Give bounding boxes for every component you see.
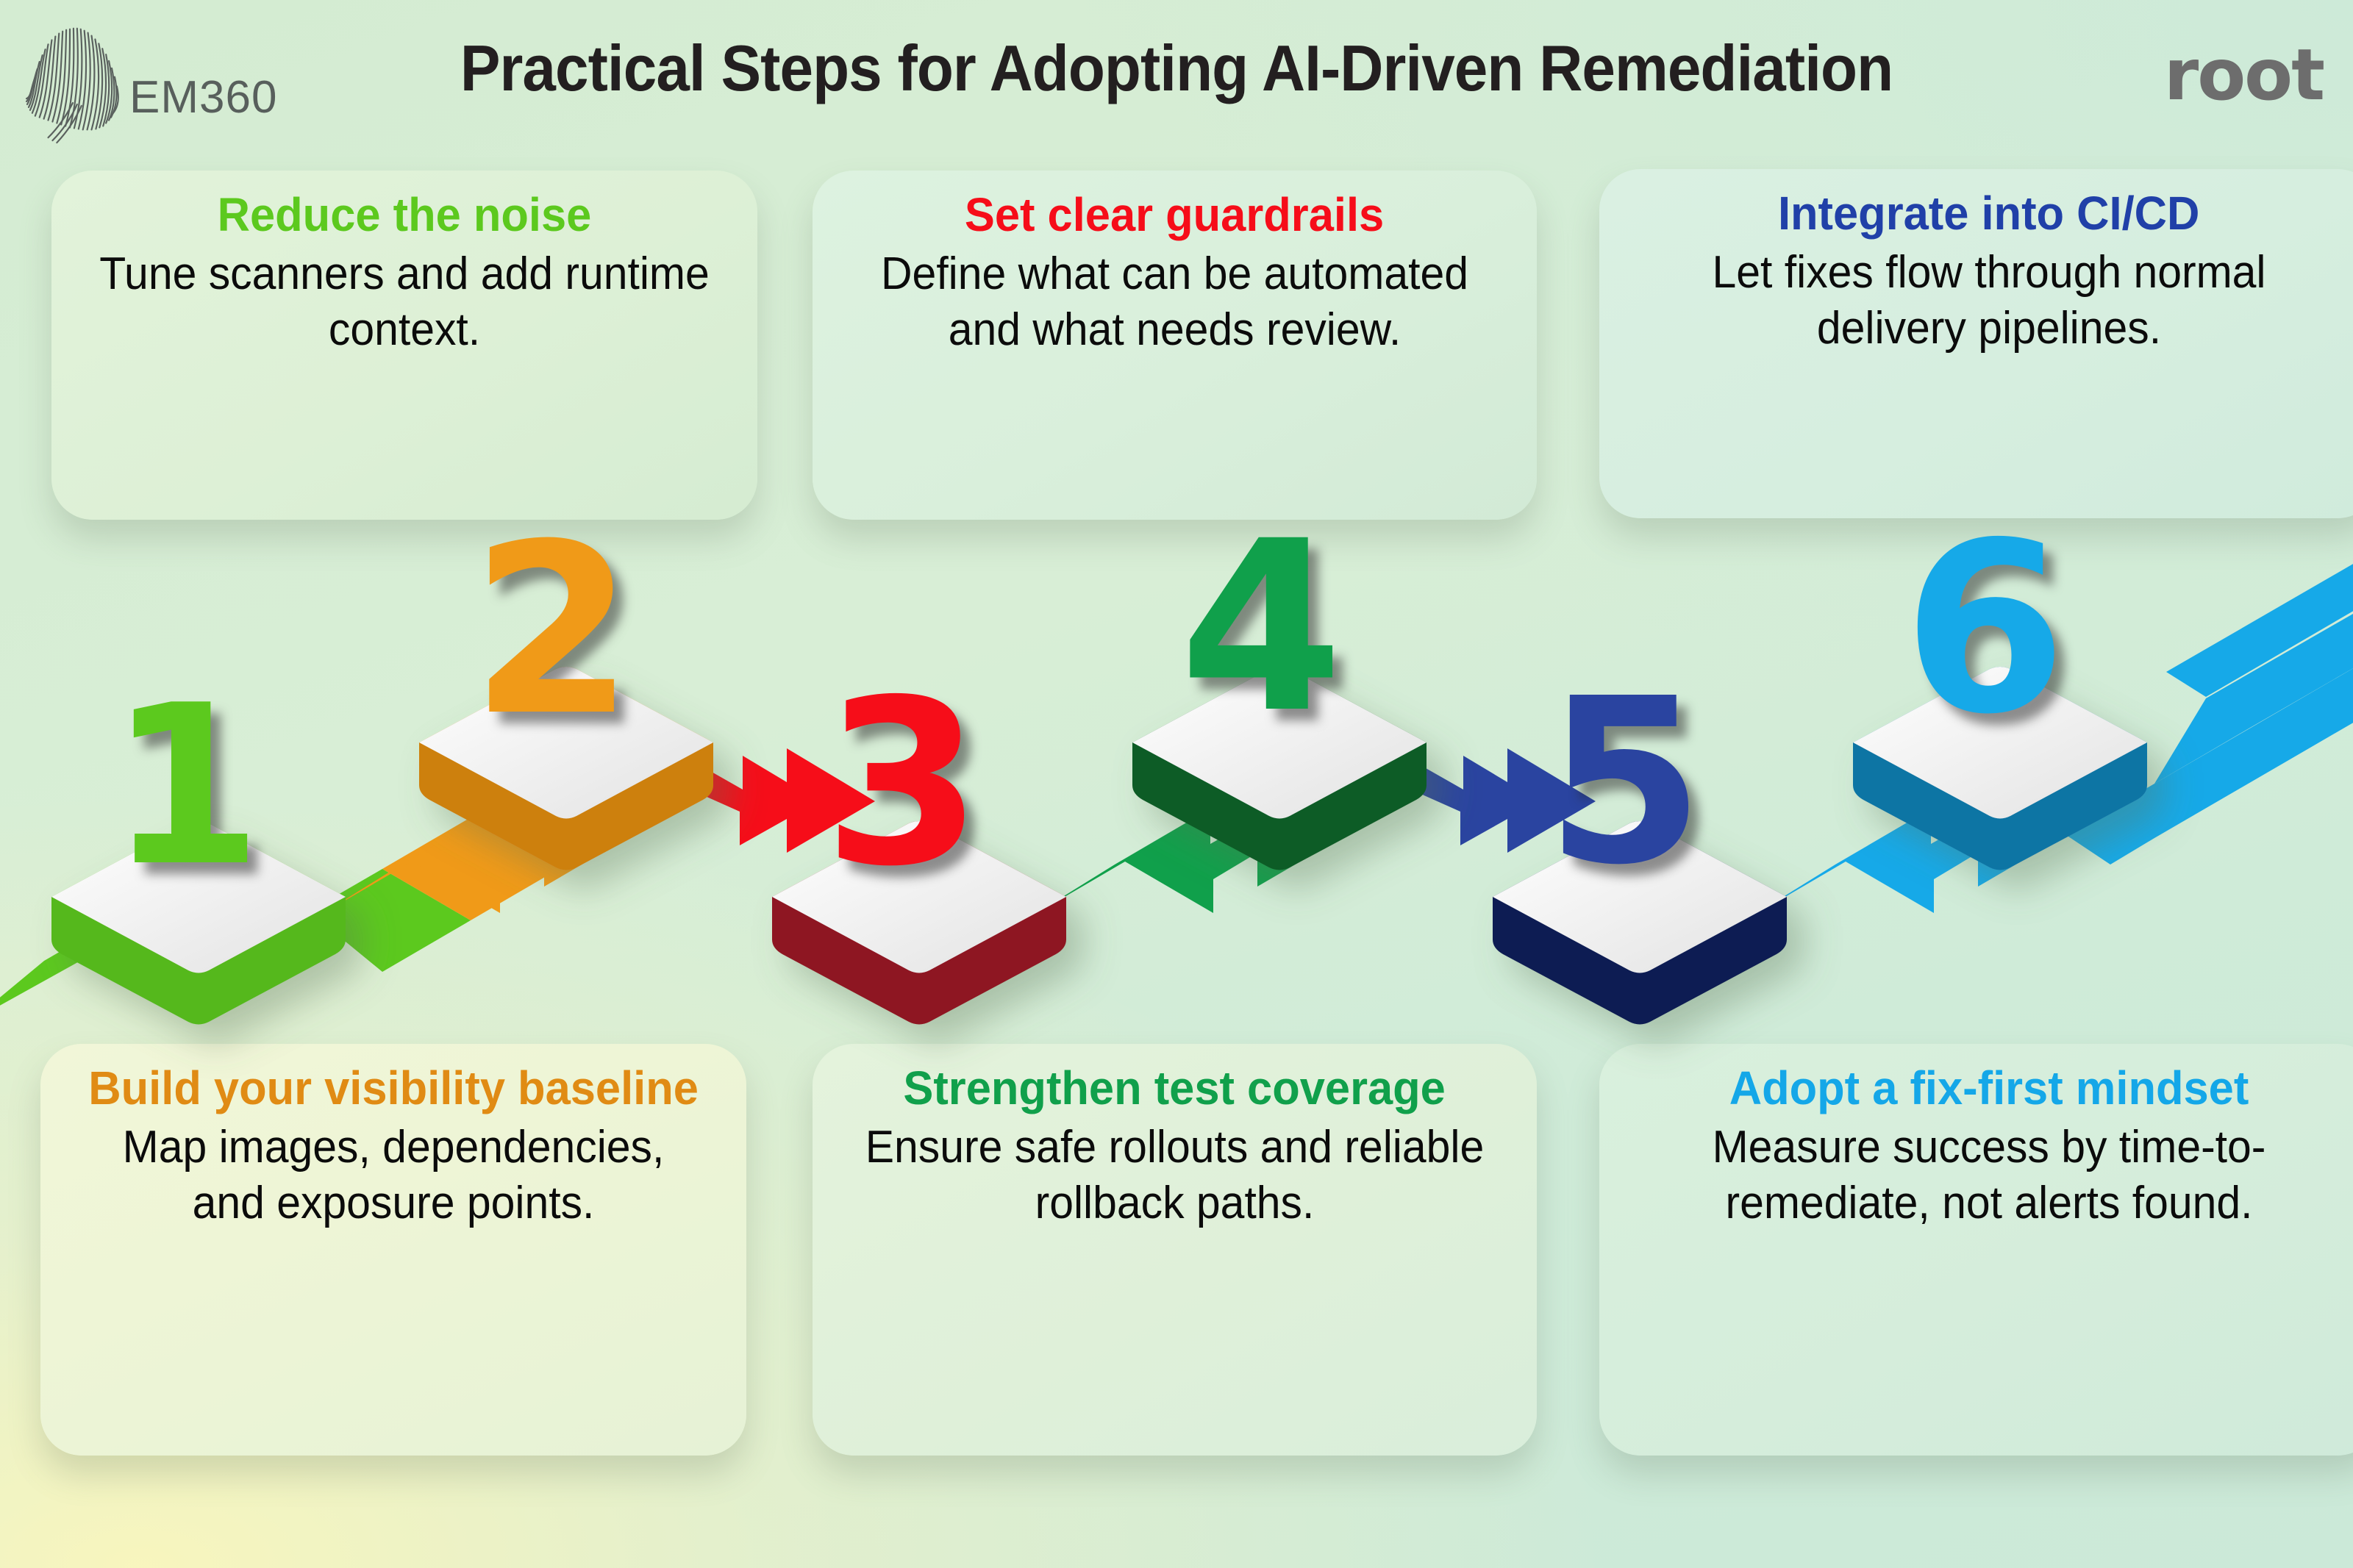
step-block-2[interactable]: 2 <box>390 647 743 867</box>
card-body: Ensure safe rollouts and reliable rollba… <box>854 1120 1495 1231</box>
step-card-3[interactable]: Set clear guardrails Define what can be … <box>813 171 1537 520</box>
root-wordmark: root <box>2164 34 2324 116</box>
card-title: Build your visibility baseline <box>88 1063 699 1114</box>
card-title: Set clear guardrails <box>965 190 1384 240</box>
step-block-4[interactable]: 4 <box>1103 647 1456 867</box>
card-body: Tune scanners and add runtime context. <box>93 246 715 357</box>
page-title: Practical Steps for Adopting AI-Driven R… <box>82 31 2271 106</box>
step-block-3[interactable]: 3 <box>743 801 1096 1022</box>
step-card-6[interactable]: Adopt a fix-first mindset Measure succes… <box>1599 1044 2353 1456</box>
step-card-2[interactable]: Build your visibility baseline Map image… <box>40 1044 746 1456</box>
card-body: Let fixes flow through normal delivery p… <box>1643 245 2335 356</box>
step-card-4[interactable]: Strengthen test coverage Ensure safe rol… <box>813 1044 1537 1456</box>
step-block-6[interactable]: 6 <box>1824 647 2177 867</box>
card-title: Reduce the noise <box>218 190 592 240</box>
step-block-1[interactable]: 1 <box>22 801 375 1022</box>
step-block-5[interactable]: 5 <box>1463 801 1816 1022</box>
step-card-5[interactable]: Integrate into CI/CD Let fixes flow thro… <box>1599 169 2353 518</box>
step-card-1[interactable]: Reduce the noise Tune scanners and add r… <box>51 171 757 520</box>
card-title: Integrate into CI/CD <box>1778 188 2199 239</box>
header: EM360 Practical Steps for Adopting AI-Dr… <box>0 0 2353 158</box>
infographic-canvas: EM360 Practical Steps for Adopting AI-Dr… <box>0 0 2353 1568</box>
card-body: Define what can be automated and what ne… <box>854 246 1495 357</box>
card-title: Strengthen test coverage <box>904 1063 1446 1114</box>
card-body: Map images, dependencies, and exposure p… <box>82 1120 704 1231</box>
card-title: Adopt a fix-first mindset <box>1729 1063 2249 1114</box>
card-body: Measure success by time-to-remediate, no… <box>1643 1120 2335 1231</box>
